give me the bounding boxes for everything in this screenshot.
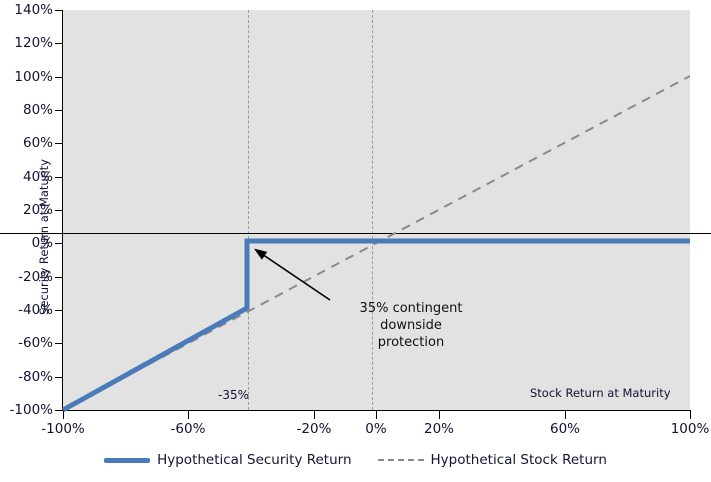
legend-swatch-solid-line-icon xyxy=(104,458,150,463)
x-tick-2 xyxy=(314,411,315,419)
y-tick-8 xyxy=(55,277,63,278)
annotation-downside-protection: 35% contingent downside protection xyxy=(336,300,486,351)
y-tick-label-12: -100% xyxy=(0,404,53,418)
legend-item-security-return[interactable]: Hypothetical Security Return xyxy=(104,452,351,468)
x-tick-4 xyxy=(439,411,440,419)
annotation-line-3: protection xyxy=(336,334,486,351)
y-tick-label-11: -80% xyxy=(0,371,53,385)
x-tick-label-4: 20% xyxy=(379,422,499,436)
x-tick-5 xyxy=(565,411,566,419)
y-tick-6 xyxy=(55,210,63,211)
annotation-line-2: downside xyxy=(336,317,486,334)
annotation-line-1: 35% contingent xyxy=(336,300,486,317)
y-tick-label-10: -60% xyxy=(0,337,53,351)
y-tick-12 xyxy=(55,410,63,411)
y-tick-2 xyxy=(55,77,63,78)
legend-label-stock-return: Hypothetical Stock Return xyxy=(431,452,607,468)
legend-item-stock-return[interactable]: Hypothetical Stock Return xyxy=(378,452,607,468)
x-tick-label-0: -100% xyxy=(3,422,123,436)
y-tick-label-0: 140% xyxy=(0,4,53,18)
y-axis-title: Security Return at Maturity xyxy=(37,147,51,327)
x-axis-title: Stock Return at Maturity xyxy=(530,386,671,400)
y-tick-1 xyxy=(55,43,63,44)
x-tick-label-6: 100% xyxy=(630,422,711,436)
y-tick-10 xyxy=(55,343,63,344)
x-tick-label-5: 60% xyxy=(505,422,625,436)
y-tick-4 xyxy=(55,143,63,144)
y-tick-label-1: 120% xyxy=(0,37,53,51)
y-tick-0 xyxy=(55,10,63,11)
x-tick-3 xyxy=(376,411,377,419)
y-tick-label-2: 100% xyxy=(0,71,53,85)
y-tick-11 xyxy=(55,377,63,378)
y-tick-5 xyxy=(55,177,63,178)
legend-swatch-dashed-line-icon xyxy=(378,459,424,461)
point-label-minus-35: -35% xyxy=(218,388,249,402)
x-tick-6 xyxy=(690,411,691,419)
y-tick-3 xyxy=(55,110,63,111)
legend-label-security-return: Hypothetical Security Return xyxy=(157,452,351,468)
x-tick-0 xyxy=(63,411,64,419)
gridline-minus-35 xyxy=(248,10,249,410)
chart-container: 140% 120% 100% 80% 60% 40% 20% 0% -20% -… xyxy=(0,0,711,482)
zero-reference-line xyxy=(0,233,711,234)
y-tick-7 xyxy=(55,243,63,244)
x-tick-1 xyxy=(188,411,189,419)
y-tick-label-3: 80% xyxy=(0,104,53,118)
x-tick-label-1: -60% xyxy=(128,422,248,436)
y-tick-9 xyxy=(55,310,63,311)
chart-legend: Hypothetical Security Return Hypothetica… xyxy=(0,452,711,468)
